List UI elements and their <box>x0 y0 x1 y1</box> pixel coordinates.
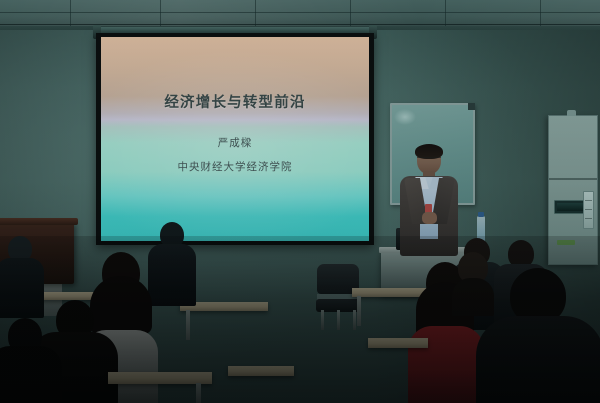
student-body <box>0 346 62 403</box>
chair-leg <box>353 310 356 330</box>
glasses-icon <box>417 157 441 162</box>
suspended-ceiling <box>0 0 600 30</box>
ac-label-sticker <box>557 240 575 245</box>
student-silhouette-foreground <box>476 268 600 403</box>
ceiling-grid-line <box>350 0 351 26</box>
ceiling-tile-sheen <box>0 0 600 26</box>
ceiling-grid-line <box>70 0 71 26</box>
ac-top-fitting <box>567 110 576 116</box>
desk <box>368 338 428 348</box>
presentation-slide: 经济增长与转型前沿 严成樑 中央财经大学经济学院 <box>101 37 369 241</box>
ceiling-grid-line <box>255 0 256 26</box>
desk <box>228 366 294 376</box>
ceiling-grid-line <box>0 24 600 25</box>
ceiling-grid-line <box>0 12 600 13</box>
air-conditioner-unit <box>548 115 598 265</box>
desk-leg <box>196 383 201 403</box>
chair-leg <box>337 310 340 330</box>
desk-leg <box>186 310 190 340</box>
slide-affiliation: 中央财经大学经济学院 <box>101 159 369 174</box>
ac-panel-seam <box>549 178 597 180</box>
student-body <box>476 316 600 403</box>
lectern-top-surface <box>0 218 78 225</box>
presenter <box>398 146 460 256</box>
ceiling-grid-line <box>540 0 541 26</box>
presenter-hands <box>422 212 437 224</box>
ac-button-divider <box>585 218 592 219</box>
ac-display-panel <box>554 200 586 214</box>
water-bottle-cap <box>478 212 484 217</box>
ac-control-buttons[interactable] <box>583 191 594 229</box>
whiteboard-corner-bracket <box>468 103 475 110</box>
desk-leg <box>357 296 361 326</box>
slide-author: 严成樑 <box>101 135 369 150</box>
student-silhouette <box>0 318 62 403</box>
projection-screen: 经济增长与转型前沿 严成樑 中央财经大学经济学院 <box>96 33 374 245</box>
ceiling-grid-line <box>160 0 161 26</box>
ceiling-grid-line <box>445 0 446 26</box>
chair-leg <box>321 310 324 330</box>
whiteboard-glare <box>394 109 416 125</box>
ac-lcd-screen <box>557 203 583 211</box>
lecture-hall-photo: 经济增长与转型前沿 严成樑 中央财经大学经济学院 <box>0 0 600 403</box>
slide-title: 经济增长与转型前沿 <box>101 91 369 112</box>
ac-button-divider <box>585 200 592 201</box>
ac-button-divider <box>585 209 592 210</box>
